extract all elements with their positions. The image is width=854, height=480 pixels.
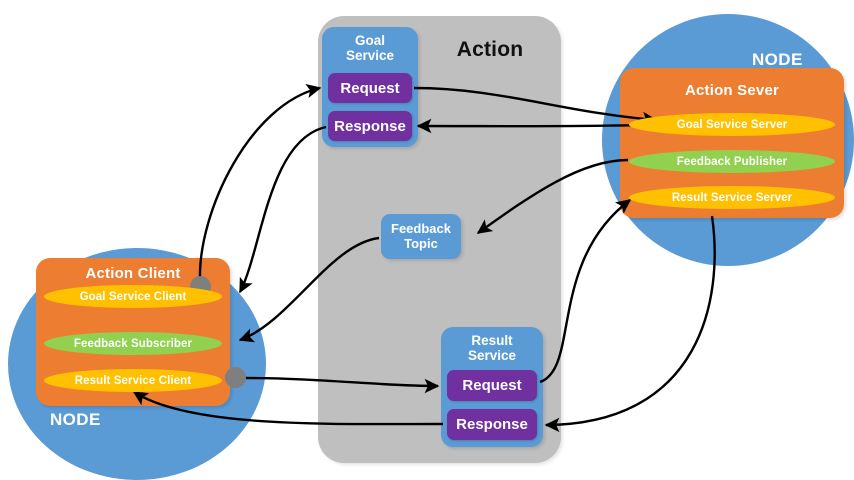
labels-layer: Action NODE NODE Action Sever Action Cli… [0, 0, 854, 480]
goal-service-client-pill[interactable]: Goal Service Client [44, 285, 222, 308]
result-request-box[interactable]: Request [447, 370, 537, 401]
feedback-topic-box[interactable]: Feedback Topic [381, 214, 461, 259]
result-service-server-pill[interactable]: Result Service Server [629, 186, 835, 209]
result-service-client-pill[interactable]: Result Service Client [44, 369, 222, 392]
goal-service-title-line2: Service [322, 48, 418, 63]
server-node-label: NODE [752, 50, 803, 70]
result-service-title: Result Service [441, 333, 543, 363]
feedback-subscriber-pill[interactable]: Feedback Subscriber [44, 332, 222, 355]
goal-request-box[interactable]: Request [328, 73, 412, 103]
diagram-canvas: Action NODE NODE Action Sever Action Cli… [0, 0, 854, 480]
client-node-label: NODE [50, 410, 101, 430]
feedback-topic-line2: Topic [391, 237, 451, 252]
result-service-title-line2: Service [441, 348, 543, 363]
action-title: Action [430, 38, 550, 62]
feedback-topic-line1: Feedback [391, 222, 451, 237]
goal-service-server-pill[interactable]: Goal Service Server [629, 113, 835, 136]
result-response-box[interactable]: Response [447, 409, 537, 440]
goal-response-box[interactable]: Response [328, 111, 412, 141]
feedback-publisher-pill[interactable]: Feedback Publisher [629, 150, 835, 173]
action-server-title: Action Sever [620, 82, 844, 99]
goal-service-title-line1: Goal [322, 33, 418, 48]
goal-service-title: Goal Service [322, 33, 418, 63]
result-service-title-line1: Result [441, 333, 543, 348]
action-client-title: Action Client [36, 265, 230, 282]
